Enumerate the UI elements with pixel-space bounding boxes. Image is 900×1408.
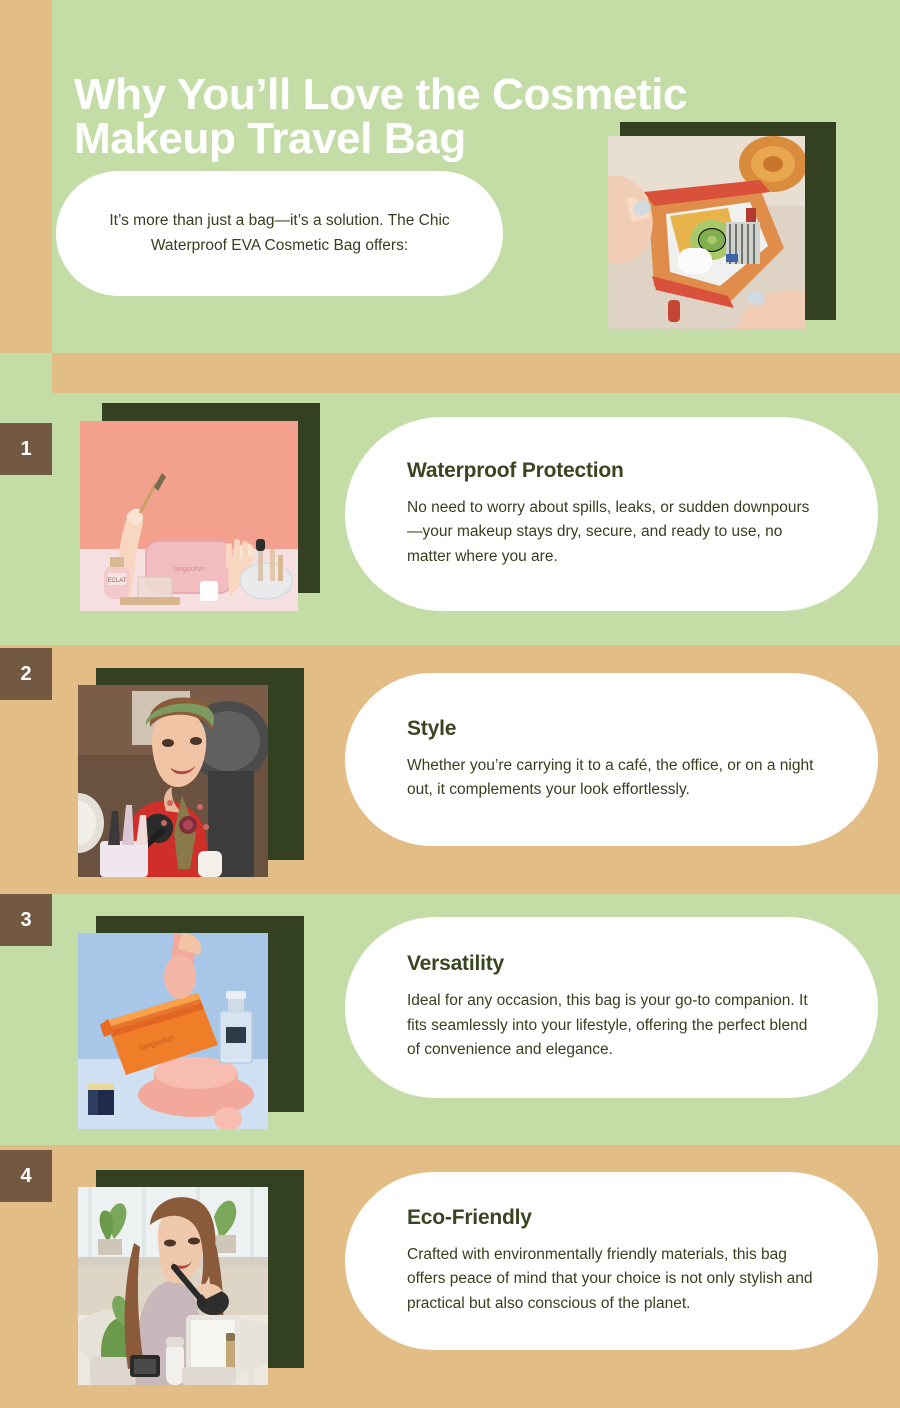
svg-text:ECLAT: ECLAT — [108, 578, 127, 584]
section-2-photo — [78, 685, 268, 877]
section-2-card: Style Whether you’re carrying it to a ca… — [345, 673, 878, 846]
section-2-photo-wrap — [78, 668, 304, 877]
hero-left-gutter-strip — [0, 0, 52, 353]
section-4-body: Crafted with environmentally friendly ma… — [407, 1243, 816, 1316]
infographic-page: Why You’ll Love the Cosmetic Makeup Trav… — [0, 0, 900, 1408]
section-3-card: Versatility Ideal for any occasion, this… — [345, 917, 878, 1098]
section-2-number-badge: 2 — [0, 648, 52, 700]
section-2-body: Whether you’re carrying it to a café, th… — [407, 754, 816, 803]
section-1-title: Waterproof Protection — [407, 459, 816, 483]
section-3-title: Versatility — [407, 952, 816, 976]
divider-tan-bar — [52, 353, 900, 393]
section-1-photo: fangoofun — [80, 421, 298, 611]
section-1-body: No need to worry about spills, leaks, or… — [407, 496, 816, 569]
section-4-photo — [78, 1187, 268, 1385]
section-4-card: Eco-Friendly Crafted with environmentall… — [345, 1172, 878, 1350]
svg-text:fangoofun: fangoofun — [173, 566, 204, 573]
section-1-card: Waterproof Protection No need to worry a… — [345, 417, 878, 611]
section-3-body: Ideal for any occasion, this bag is your… — [407, 989, 816, 1062]
intro-text: It’s more than just a bag—it’s a solutio… — [94, 209, 466, 258]
header-photo — [608, 136, 805, 329]
section-1-number-badge: 1 — [0, 423, 52, 475]
section-4-number-badge: 4 — [0, 1150, 52, 1202]
header-photo-wrap — [608, 122, 836, 329]
section-4-title: Eco-Friendly — [407, 1206, 816, 1230]
section-4-photo-wrap — [78, 1170, 304, 1385]
section-3-photo: fangoofun — [78, 933, 268, 1129]
intro-pill: It’s more than just a bag—it’s a solutio… — [56, 171, 503, 296]
section-3-photo-wrap: fangoofun — [78, 916, 304, 1129]
section-2-title: Style — [407, 717, 816, 741]
section-1-photo-wrap: fangoofun — [80, 403, 320, 611]
section-3-number-badge: 3 — [0, 894, 52, 946]
